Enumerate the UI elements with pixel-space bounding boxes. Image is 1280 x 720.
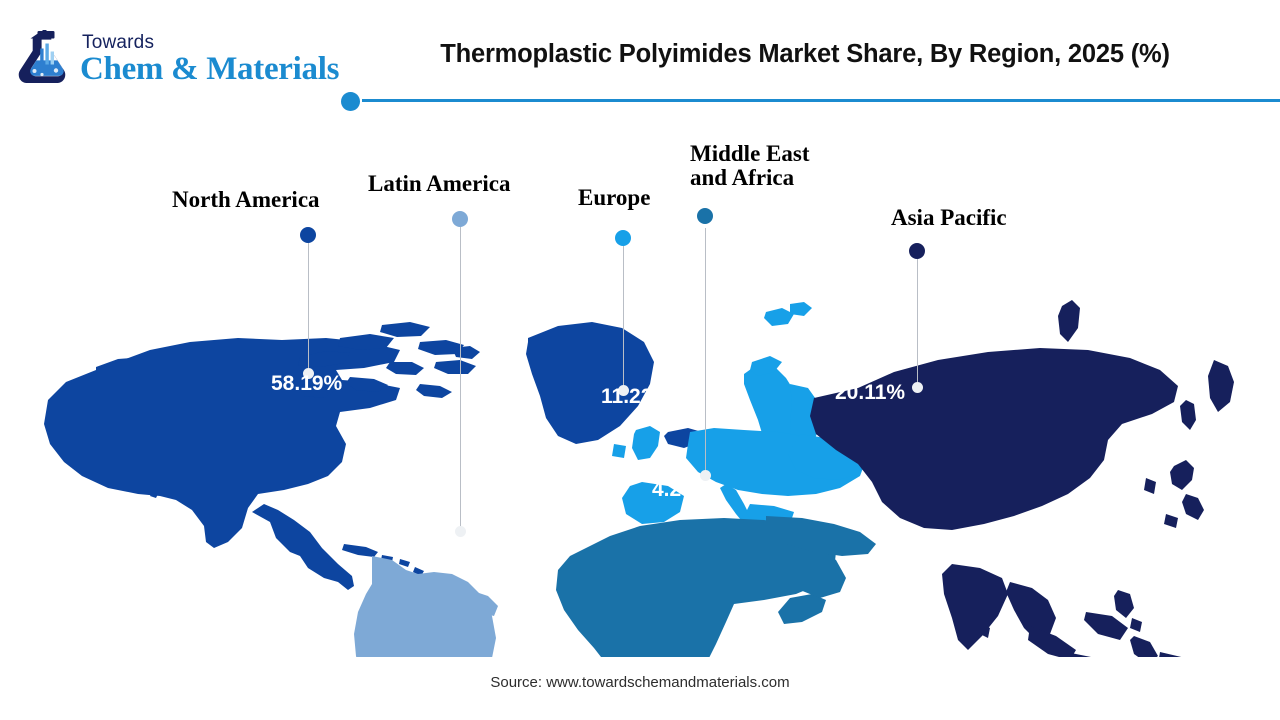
- callout-stem-latin-america: [460, 224, 461, 532]
- value-middle-east-africa: 4.29%: [652, 478, 712, 502]
- callout-label-north-america: North America: [172, 188, 372, 212]
- callout-tip-asia-pacific: [912, 382, 923, 393]
- page-title: Thermoplastic Polyimides Market Share, B…: [352, 40, 1258, 69]
- value-north-america: 58.19%: [271, 372, 342, 396]
- market-share-infographic: Towards Chem & Materials Thermoplastic P…: [0, 0, 1280, 720]
- region-middle-east-africa[interactable]: [556, 516, 876, 657]
- brand-logo[interactable]: Towards Chem & Materials: [18, 26, 348, 92]
- callout-dot-latin-america: [452, 211, 468, 227]
- brand-wordmark: Towards Chem & Materials: [80, 33, 339, 86]
- value-europe: 11.22%: [601, 385, 671, 409]
- callout-stem-north-america: [308, 240, 309, 375]
- callout-label-latin-america: Latin America: [368, 172, 568, 196]
- value-asia-pacific: 20.11%: [835, 381, 905, 405]
- callout-stem-asia-pacific: [917, 258, 918, 388]
- callout-stem-europe: [623, 243, 624, 391]
- callout-dot-middle-east-africa: [697, 208, 713, 224]
- brand-line-1: Towards: [80, 33, 339, 52]
- callout-label-asia-pacific: Asia Pacific: [891, 206, 1071, 230]
- header: Towards Chem & Materials Thermoplastic P…: [0, 0, 1280, 112]
- flask-icon: [18, 30, 74, 88]
- callout-dot-asia-pacific: [909, 243, 925, 259]
- region-latin-america[interactable]: [354, 556, 498, 657]
- header-rule-dot: [341, 92, 360, 111]
- callout-dot-north-america: [300, 227, 316, 243]
- region-asia-pacific[interactable]: [810, 300, 1266, 657]
- source-text: Source: www.towardschemandmaterials.com: [0, 674, 1280, 691]
- value-latin-america: 6.19%: [400, 531, 460, 555]
- callout-label-middle-east-africa: Middle East and Africa: [690, 142, 860, 190]
- header-rule: [362, 99, 1280, 102]
- brand-line-2: Chem & Materials: [80, 53, 339, 86]
- callout-dot-europe: [615, 230, 631, 246]
- callout-stem-middle-east-africa: [705, 228, 706, 477]
